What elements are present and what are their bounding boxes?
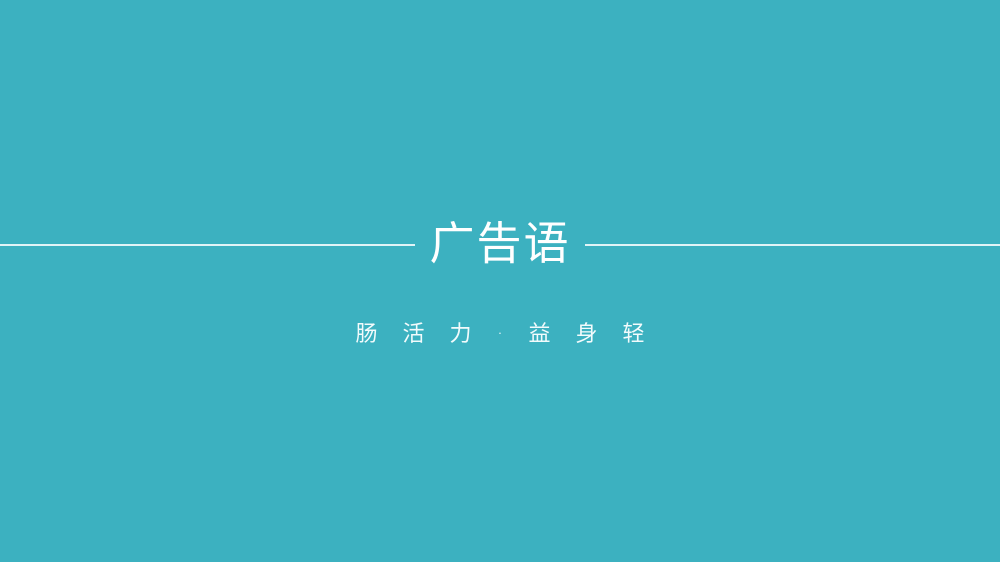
slide-title: 广告语 — [429, 212, 570, 276]
slide-canvas: 广告语 肠 活 力 · 益 身 轻 — [0, 0, 1000, 562]
subtitle-container: 肠 活 力 · 益 身 轻 — [0, 318, 1000, 352]
slide-subtitle: 肠 活 力 · 益 身 轻 — [347, 318, 654, 352]
title-container: 广告语 — [0, 212, 1000, 276]
